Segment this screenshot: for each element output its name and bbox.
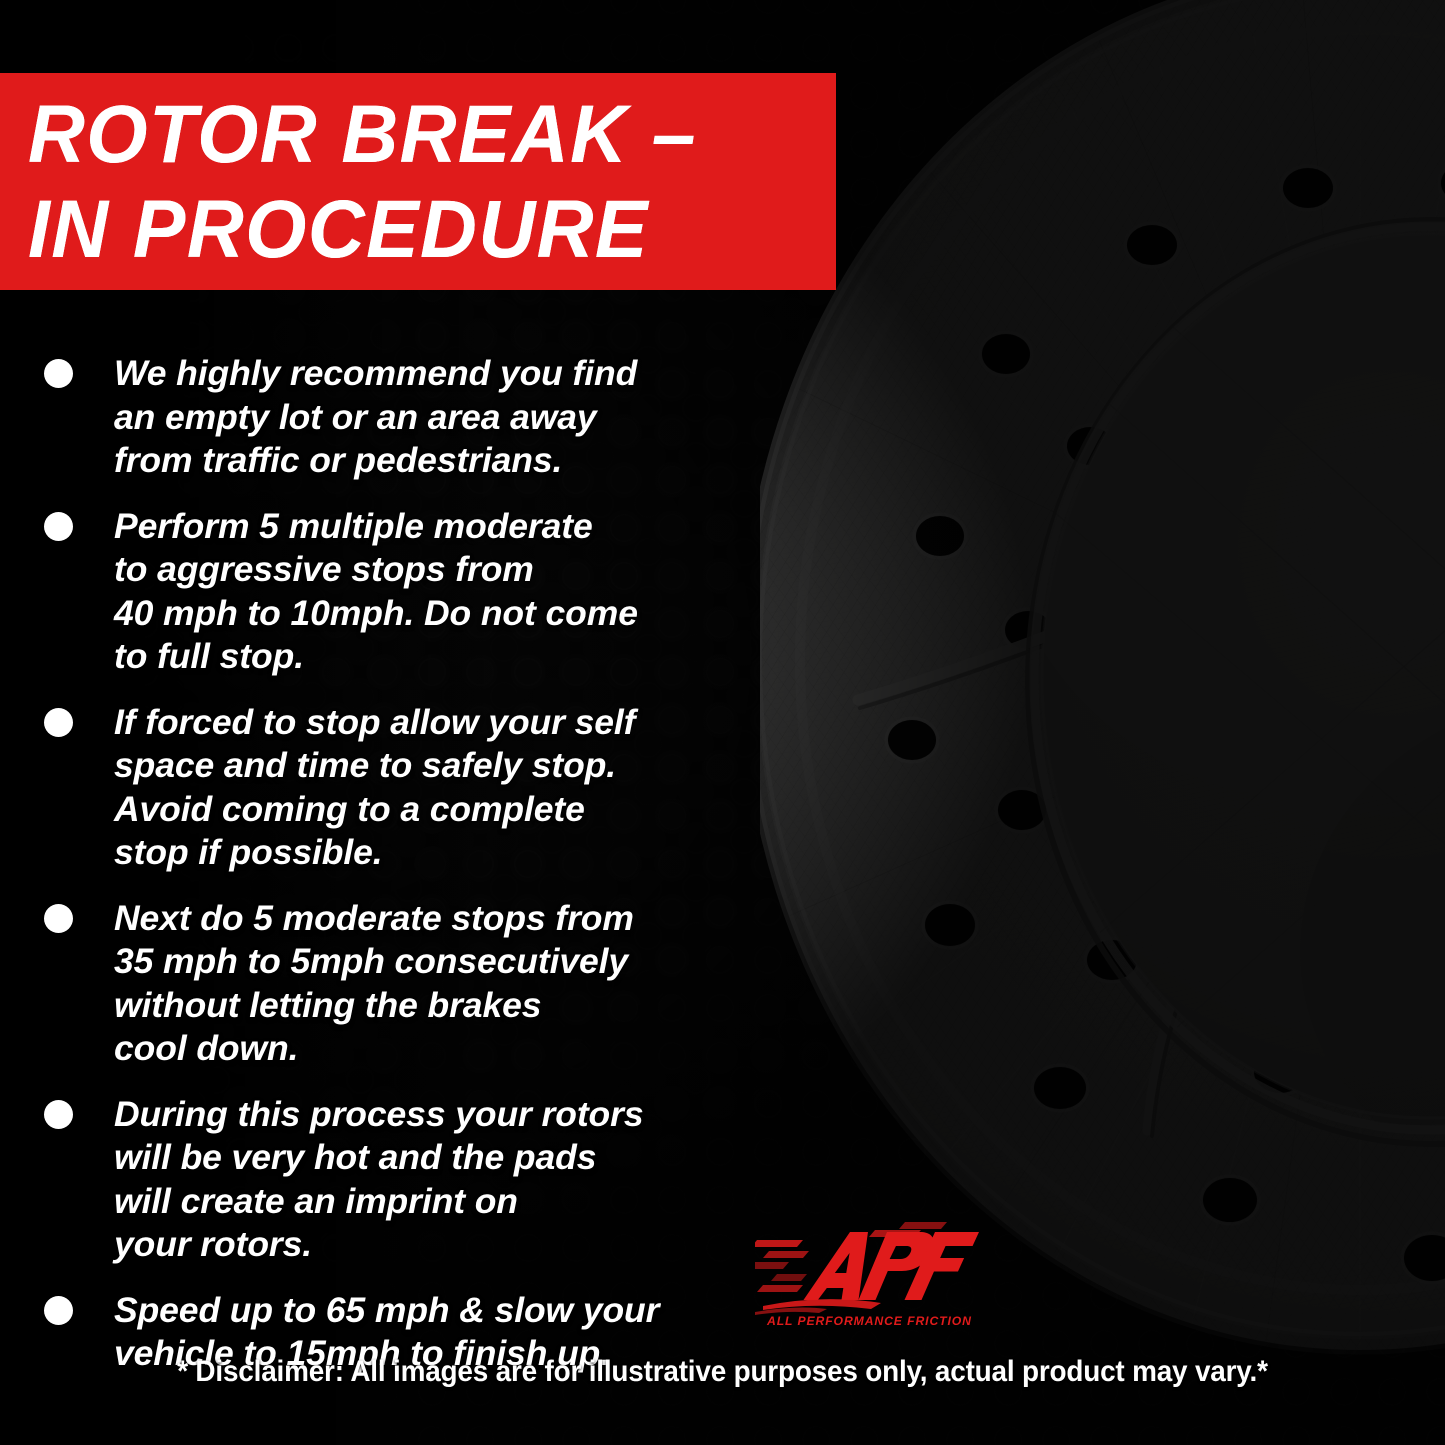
list-item: If forced to stop allow your self space … <box>44 701 774 875</box>
bullet-dot-icon <box>44 359 73 388</box>
title-banner: ROTOR BREAK – IN PROCEDURE <box>0 73 836 290</box>
list-item: Perform 5 multiple moderate to aggressiv… <box>44 505 774 679</box>
bullet-find-empty-lot: We highly recommend you find an empty lo… <box>114 352 637 483</box>
disclaimer-text: * Disclaimer: All images are for illustr… <box>51 1355 1395 1389</box>
rotor-break-in-infographic: ROTOR BREAK – IN PROCEDURE We highly rec… <box>0 0 1445 1445</box>
list-item: During this process your rotors will be … <box>44 1093 774 1267</box>
bullet-rotors-hot-pad-imprint: During this process your rotors will be … <box>114 1093 644 1267</box>
apf-logo: ALL PERFORMANCE FRICTION <box>755 1218 985 1328</box>
bullet-dot-icon <box>44 1296 73 1325</box>
list-item: Next do 5 moderate stops from 35 mph to … <box>44 897 774 1071</box>
list-item: We highly recommend you find an empty lo… <box>44 352 774 483</box>
bullet-dot-icon <box>44 904 73 933</box>
apf-tagline: ALL PERFORMANCE FRICTION <box>766 1314 972 1328</box>
bullet-dot-icon <box>44 512 73 541</box>
page-title-line-1: ROTOR BREAK – <box>28 87 804 182</box>
bullet-dot-icon <box>44 708 73 737</box>
bullet-allow-space-and-time: If forced to stop allow your self space … <box>114 701 635 875</box>
page-title-line-2: IN PROCEDURE <box>28 182 804 277</box>
bullet-dot-icon <box>44 1100 73 1129</box>
bullet-five-aggressive-stops: Perform 5 multiple moderate to aggressiv… <box>114 505 638 679</box>
bullet-five-moderate-stops: Next do 5 moderate stops from 35 mph to … <box>114 897 634 1071</box>
procedure-bullet-list: We highly recommend you find an empty lo… <box>44 352 774 1398</box>
